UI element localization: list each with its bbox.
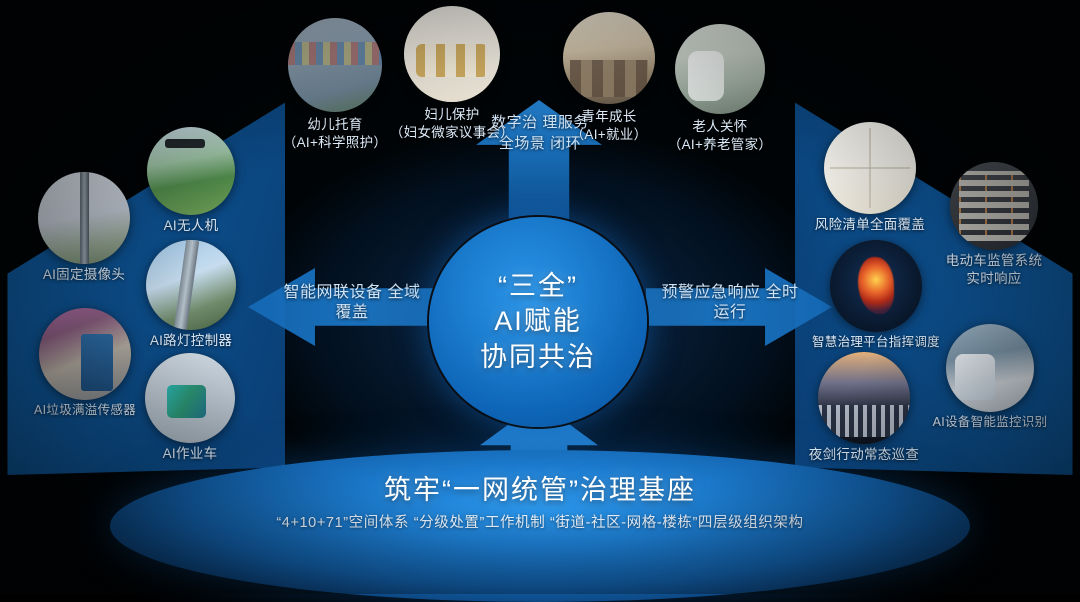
- camera-label: AI固定摄像头: [14, 266, 154, 284]
- women-image: [404, 6, 500, 102]
- node-nursery[interactable]: 幼儿托育 （AI+科学照护）: [288, 18, 382, 112]
- truck-photo: [145, 353, 235, 443]
- node-women[interactable]: 妇儿保护 （妇女微家议事会）: [404, 6, 500, 102]
- node-truck[interactable]: AI作业车: [145, 353, 235, 443]
- governance-base: 筑牢“一网统管”治理基座 “4+10+71”空间体系 “分级处置”工作机制 “街…: [110, 450, 970, 602]
- youth-photo: [563, 12, 655, 104]
- risklist-image: [824, 122, 916, 214]
- truck-label: AI作业车: [135, 445, 245, 463]
- risklist-photo: [824, 122, 916, 214]
- aidevice-photo: [946, 324, 1034, 412]
- node-drone[interactable]: AI无人机: [147, 127, 235, 215]
- node-evmonitor[interactable]: 电动车监管系统 实时响应: [950, 162, 1038, 250]
- patrol-image: [818, 352, 910, 444]
- base-title: 筑牢“一网统管”治理基座: [110, 468, 970, 507]
- node-patrol[interactable]: 夜剑行动常态巡查: [818, 352, 910, 444]
- platform-label: 智慧治理平台指挥调度: [791, 334, 961, 350]
- women-photo: [404, 6, 500, 102]
- node-trash[interactable]: AI垃圾满溢传感器: [39, 308, 131, 400]
- evmonitor-label: 电动车监管系统 实时响应: [928, 252, 1060, 287]
- evmonitor-image: [950, 162, 1038, 250]
- trash-image: [39, 308, 131, 400]
- drone-label: AI无人机: [136, 217, 246, 235]
- platform-image: [830, 240, 922, 332]
- evmonitor-photo: [950, 162, 1038, 250]
- core-line-3: 协同共治: [480, 340, 596, 375]
- lamp-photo: [146, 240, 236, 330]
- platform-photo: [830, 240, 922, 332]
- core-circle[interactable]: “三全” AI赋能 协同共治: [429, 217, 647, 427]
- risklist-label: 风险清单全面覆盖: [795, 216, 945, 234]
- infographic-canvas: 智能网联设备 全域覆盖 预警应急响应 全时运行 数字治 理服务 全场景 闭环 “…: [0, 0, 1080, 594]
- lamp-image: [146, 240, 236, 330]
- node-risklist[interactable]: 风险清单全面覆盖: [824, 122, 916, 214]
- elder-label: 老人关怀 （AI+养老管家）: [640, 118, 800, 153]
- trash-label: AI垃圾满溢传感器: [5, 402, 165, 418]
- node-aidevice[interactable]: AI设备智能监控识别: [946, 324, 1034, 412]
- aidevice-image: [946, 324, 1034, 412]
- core-line-1: “三全”: [498, 269, 578, 304]
- youth-image: [563, 12, 655, 104]
- lamp-label: AI路灯控制器: [121, 332, 261, 350]
- node-platform[interactable]: 智慧治理平台指挥调度: [830, 240, 922, 332]
- aidevice-label: AI设备智能监控识别: [910, 414, 1070, 430]
- base-subtitle: “4+10+71”空间体系 “分级处置”工作机制 “街道-社区-网格-楼栋”四层…: [110, 512, 970, 535]
- node-elder[interactable]: 老人关怀 （AI+养老管家）: [675, 24, 765, 114]
- truck-image: [145, 353, 235, 443]
- camera-image: [38, 172, 130, 264]
- women-label: 妇儿保护 （妇女微家议事会）: [367, 106, 537, 141]
- nursery-image: [288, 18, 382, 112]
- elder-image: [675, 24, 765, 114]
- nursery-photo: [288, 18, 382, 112]
- camera-photo: [38, 172, 130, 264]
- node-youth[interactable]: 青年成长 （AI+就业）: [563, 12, 655, 104]
- drone-image: [147, 127, 235, 215]
- patrol-label: 夜剑行动常态巡查: [789, 446, 939, 464]
- patrol-photo: [818, 352, 910, 444]
- elder-photo: [675, 24, 765, 114]
- trash-photo: [39, 308, 131, 400]
- left-arrow-label: 智能网联设备 全域覆盖: [278, 283, 426, 324]
- node-lamp[interactable]: AI路灯控制器: [146, 240, 236, 330]
- core-line-2: AI赋能: [494, 304, 582, 339]
- right-arrow-label: 预警应急响应 全时运行: [656, 283, 804, 324]
- node-camera[interactable]: AI固定摄像头: [38, 172, 130, 264]
- drone-photo: [147, 127, 235, 215]
